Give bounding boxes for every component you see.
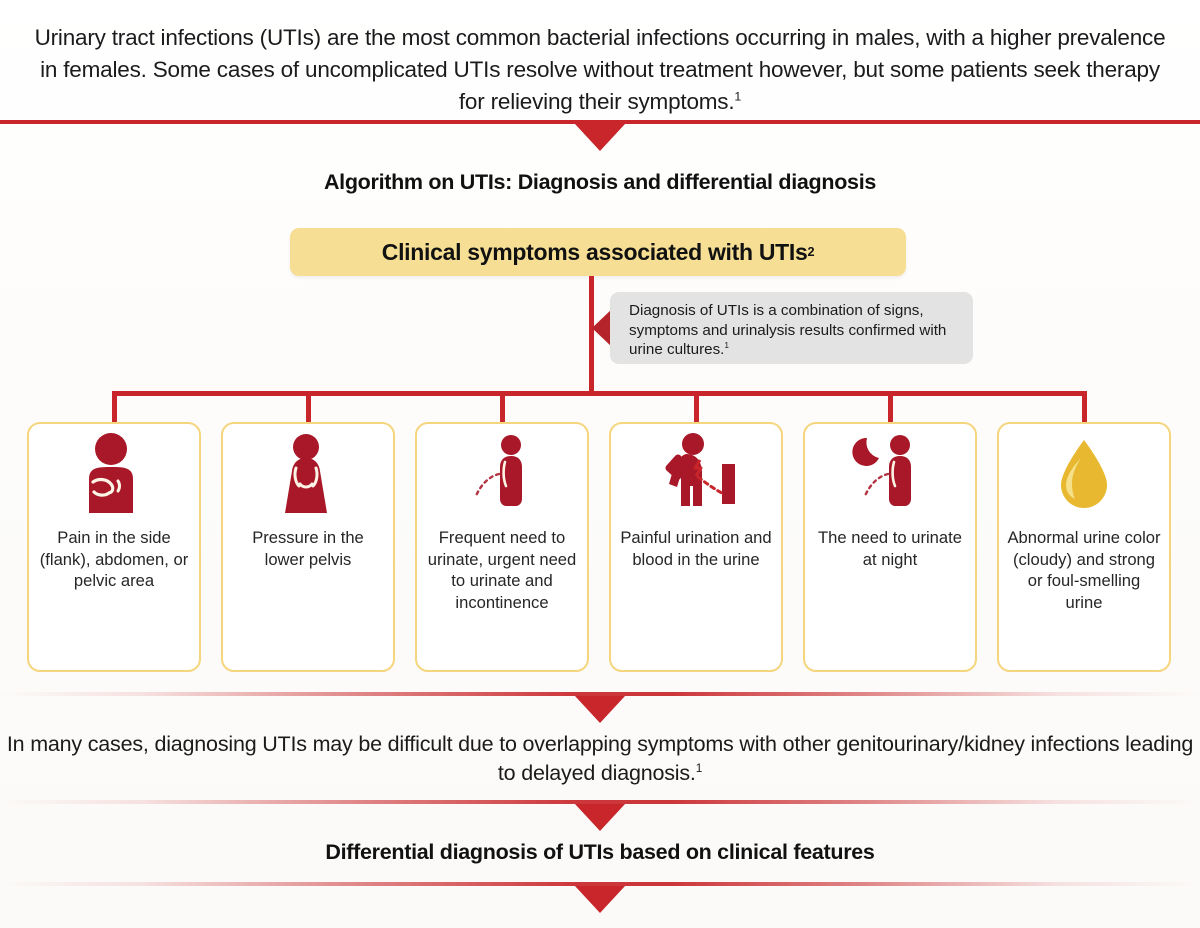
symptom-card-pelvic-pressure[interactable]: Pressure in the lower pelvis xyxy=(221,422,395,672)
symptom-card-painful-urination[interactable]: Painful urination and blood in the urine xyxy=(609,422,783,672)
connector-drop-5 xyxy=(888,391,893,424)
diagnosis-callout: Diagnosis of UTIs is a combination of si… xyxy=(610,292,973,364)
symptom-card-frequent-urination[interactable]: Frequent need to urinate, urgent need to… xyxy=(415,422,589,672)
mid-text-superscript: 1 xyxy=(696,761,702,775)
person-urinating-icon xyxy=(459,424,545,516)
arrow-down-bottom xyxy=(575,886,625,913)
banner-text: Clinical symptoms associated with UTIs xyxy=(382,239,808,266)
arrow-down-top xyxy=(575,124,625,151)
arrow-down-after-cards xyxy=(575,696,625,723)
symptom-card-label: The need to urinate at night xyxy=(805,527,975,570)
connector-drop-4 xyxy=(694,391,699,424)
arrow-down-before-differential xyxy=(575,804,625,831)
symptom-card-label: Pain in the side (flank), abdomen, or pe… xyxy=(29,527,199,592)
connector-drop-1 xyxy=(112,391,117,424)
connector-drop-2 xyxy=(306,391,311,424)
person-holding-abdomen-icon xyxy=(71,424,157,516)
infographic-page: Urinary tract infections (UTIs) are the … xyxy=(0,0,1200,928)
symptom-card-label: Pressure in the lower pelvis xyxy=(223,527,393,570)
symptom-card-abnormal-urine[interactable]: Abnormal urine color (cloudy) and strong… xyxy=(997,422,1171,672)
symptom-card-label: Abnormal urine color (cloudy) and strong… xyxy=(999,527,1169,613)
intro-text: Urinary tract infections (UTIs) are the … xyxy=(35,25,1166,114)
connector-drop-3 xyxy=(500,391,505,424)
symptom-card-label: Painful urination and blood in the urine xyxy=(611,527,781,570)
intro-paragraph: Urinary tract infections (UTIs) are the … xyxy=(0,22,1200,118)
differential-diagnosis-title: Differential diagnosis of UTIs based on … xyxy=(0,840,1200,865)
connector-drop-6 xyxy=(1082,391,1087,424)
person-painful-urination-icon xyxy=(648,424,744,516)
algorithm-title: Algorithm on UTIs: Diagnosis and differe… xyxy=(0,170,1200,195)
connector-horizontal-bar xyxy=(112,391,1087,396)
callout-superscript: 1 xyxy=(724,340,729,350)
urine-droplet-icon xyxy=(1041,424,1127,516)
person-holding-pelvis-icon xyxy=(265,424,351,516)
mid-text-body: In many cases, diagnosing UTIs may be di… xyxy=(7,732,1193,785)
person-nocturia-moon-icon xyxy=(845,424,935,516)
clinical-symptoms-banner: Clinical symptoms associated with UTIs2 xyxy=(290,228,906,276)
symptom-card-pain-side[interactable]: Pain in the side (flank), abdomen, or pe… xyxy=(27,422,201,672)
symptom-card-nocturia[interactable]: The need to urinate at night xyxy=(803,422,977,672)
overlapping-symptoms-text: In many cases, diagnosing UTIs may be di… xyxy=(0,730,1200,788)
intro-superscript: 1 xyxy=(734,90,741,104)
symptom-cards-row: Pain in the side (flank), abdomen, or pe… xyxy=(0,422,1200,674)
symptom-card-label: Frequent need to urinate, urgent need to… xyxy=(417,527,587,613)
callout-text: Diagnosis of UTIs is a combination of si… xyxy=(629,302,946,358)
